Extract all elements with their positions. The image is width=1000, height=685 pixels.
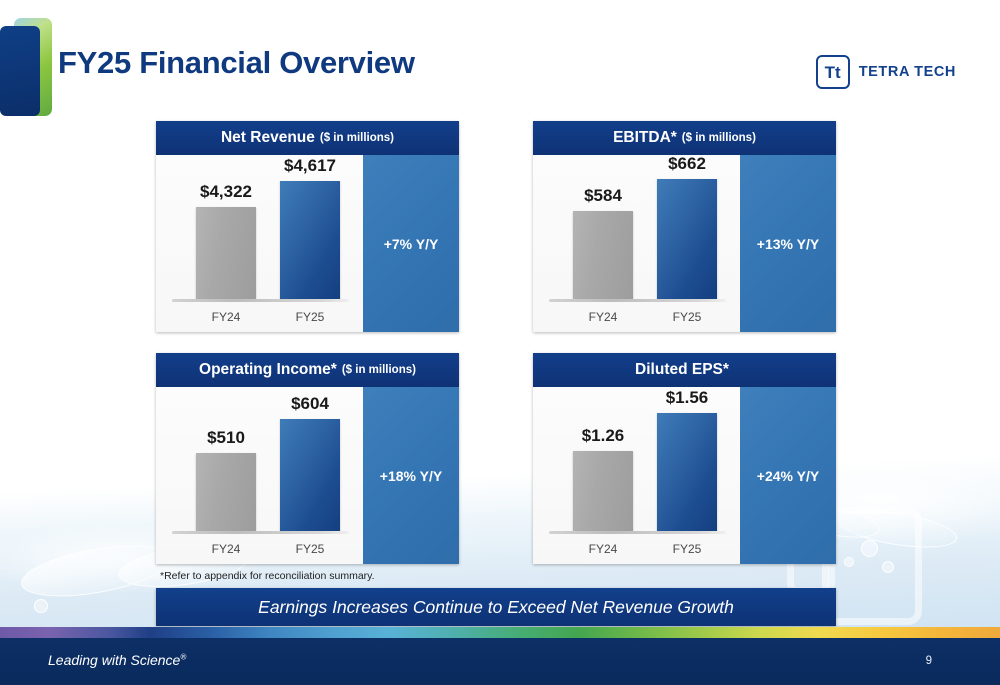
x-tick-fy25: FY25 — [280, 542, 340, 556]
bar-fy25 — [280, 181, 340, 299]
bar-fy24 — [196, 453, 256, 531]
bar-fy24 — [573, 451, 633, 531]
bar-value-label: $4,617 — [284, 156, 336, 176]
x-tick-fy25: FY25 — [280, 310, 340, 324]
bubble-3 — [844, 557, 854, 567]
footnote: *Refer to appendix for reconciliation su… — [160, 570, 375, 582]
bar-value-label: $662 — [668, 154, 706, 174]
panel-subtitle: ($ in millions) — [320, 132, 394, 144]
bar-group-fy25: $662 — [657, 154, 717, 299]
bar-group-fy25: $604 — [280, 394, 340, 531]
panel-title: Net Revenue — [221, 129, 315, 147]
metric-panel-operating-income: Operating Income* ($ in millions) $510 $… — [156, 353, 459, 564]
bubble-4 — [34, 599, 48, 613]
panel-title: Operating Income* — [199, 361, 337, 379]
x-tick-fy25: FY25 — [657, 542, 717, 556]
panel-title: EBITDA* — [613, 129, 677, 147]
wave-ellipse-3 — [834, 504, 960, 555]
x-tick-fy24: FY24 — [196, 310, 256, 324]
footer-tagline: Leading with Science® — [48, 652, 186, 668]
bar-group-fy25: $4,617 — [280, 156, 340, 299]
panel-header: Net Revenue ($ in millions) — [156, 121, 459, 155]
corner-mark-navy-icon — [0, 26, 40, 116]
bar-chart: $584 $662 FY24 FY25 — [533, 155, 740, 332]
panel-header: Diluted EPS* — [533, 353, 836, 387]
growth-callout: +7% Y/Y — [363, 155, 459, 332]
watermark-logo-icon — [822, 507, 922, 625]
x-tick-fy25: FY25 — [657, 310, 717, 324]
plot-area: $4,322 $4,617 FY24 FY25 — [156, 155, 363, 332]
plot-area: $510 $604 FY24 FY25 — [156, 387, 363, 564]
x-tick-fy24: FY24 — [573, 310, 633, 324]
axis-line — [549, 299, 726, 302]
bar-fy24 — [573, 211, 633, 299]
panel-subtitle: ($ in millions) — [682, 132, 756, 144]
bar-group-fy24: $510 — [196, 428, 256, 531]
panel-header: EBITDA* ($ in millions) — [533, 121, 836, 155]
bar-value-label: $1.56 — [666, 388, 709, 408]
panel-body: $1.26 $1.56 FY24 FY25 +24% Y/Y — [533, 387, 836, 564]
wave-ellipse-1 — [17, 536, 174, 606]
panel-header: Operating Income* ($ in millions) — [156, 353, 459, 387]
summary-banner-text: Earnings Increases Continue to Exceed Ne… — [258, 597, 734, 618]
bar-chart: $510 $604 FY24 FY25 — [156, 387, 363, 564]
growth-callout: +24% Y/Y — [740, 387, 836, 564]
axis-line — [549, 531, 726, 534]
growth-label: +7% Y/Y — [384, 236, 439, 252]
growth-label: +18% Y/Y — [380, 468, 442, 484]
panel-subtitle: ($ in millions) — [342, 364, 416, 376]
tetra-tech-badge-icon: Tt — [816, 55, 850, 89]
tetra-tech-logo: Tt TETRA TECH — [816, 55, 956, 89]
bar-value-label: $584 — [584, 186, 622, 206]
growth-callout: +13% Y/Y — [740, 155, 836, 332]
growth-label: +13% Y/Y — [757, 236, 819, 252]
x-tick-fy24: FY24 — [196, 542, 256, 556]
footer-tagline-text: Leading with Science — [48, 652, 180, 668]
bar-value-label: $1.26 — [582, 426, 625, 446]
bubble-2 — [882, 561, 894, 573]
panel-body: $584 $662 FY24 FY25 +13% Y/Y — [533, 155, 836, 332]
summary-banner: Earnings Increases Continue to Exceed Ne… — [156, 588, 836, 626]
bar-fy25 — [657, 179, 717, 299]
page-title: FY25 Financial Overview — [58, 45, 415, 81]
bubble-1 — [861, 540, 878, 557]
metric-panel-diluted-eps: Diluted EPS* $1.26 $1.56 FY24 FY25 — [533, 353, 836, 564]
bar-group-fy24: $4,322 — [196, 182, 256, 299]
page-number: 9 — [926, 655, 932, 667]
plot-area: $584 $662 FY24 FY25 — [533, 155, 740, 332]
bar-value-label: $604 — [291, 394, 329, 414]
tetra-tech-wordmark: TETRA TECH — [859, 64, 956, 80]
bar-value-label: $4,322 — [200, 182, 252, 202]
axis-line — [172, 531, 349, 534]
bar-fy25 — [657, 413, 717, 531]
growth-callout: +18% Y/Y — [363, 387, 459, 564]
bar-fy24 — [196, 207, 256, 299]
rainbow-divider — [0, 627, 1000, 638]
corner-brand-mark — [0, 18, 58, 118]
x-tick-fy24: FY24 — [573, 542, 633, 556]
bar-chart: $1.26 $1.56 FY24 FY25 — [533, 387, 740, 564]
bar-chart: $4,322 $4,617 FY24 FY25 — [156, 155, 363, 332]
plot-area: $1.26 $1.56 FY24 FY25 — [533, 387, 740, 564]
panel-title: Diluted EPS* — [635, 361, 729, 379]
registered-mark-icon: ® — [180, 652, 186, 661]
bar-group-fy24: $1.26 — [573, 426, 633, 531]
growth-label: +24% Y/Y — [757, 468, 819, 484]
axis-line — [172, 299, 349, 302]
metric-panel-net-revenue: Net Revenue ($ in millions) $4,322 $4,61… — [156, 121, 459, 332]
metric-panel-ebitda: EBITDA* ($ in millions) $584 $662 FY24 F… — [533, 121, 836, 332]
bar-group-fy24: $584 — [573, 186, 633, 299]
bar-group-fy25: $1.56 — [657, 388, 717, 531]
bar-value-label: $510 — [207, 428, 245, 448]
bar-fy25 — [280, 419, 340, 531]
panel-body: $510 $604 FY24 FY25 +18% Y/Y — [156, 387, 459, 564]
panel-body: $4,322 $4,617 FY24 FY25 +7% Y/Y — [156, 155, 459, 332]
slide-footer: Leading with Science® 9 — [0, 638, 1000, 685]
slide-canvas: FY25 Financial Overview Tt TETRA TECH Ne… — [0, 0, 1000, 685]
